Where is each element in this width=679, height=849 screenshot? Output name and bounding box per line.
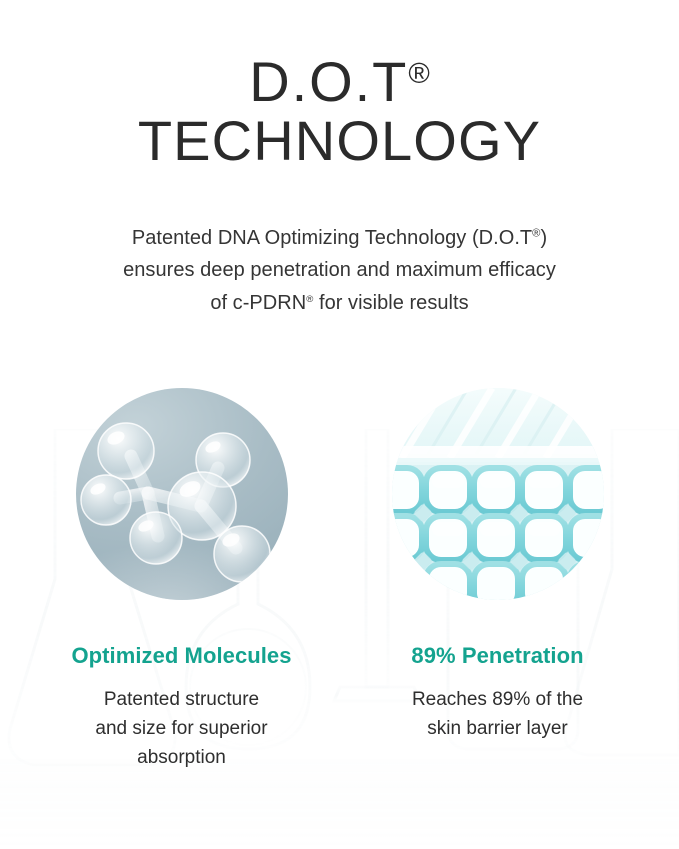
feature-description: Reaches 89% of the skin barrier layer [412,686,583,744]
subtitle-line-3-text: of c-PDRN [210,292,306,314]
title-line-two: TECHNOLOGY [0,111,679,170]
dot-technology-infographic: D.O.T® TECHNOLOGY Patented DNA Optimizin… [0,0,679,849]
feature-description-line: skin barrier layer [412,715,583,744]
subtitle-line-3-tail: for visible results [313,292,468,314]
feature-description-line: absorption [95,744,267,773]
molecule-floor-reflection [76,515,288,600]
feature-heading: 89% Penetration [411,644,583,668]
subtitle-block: Patented DNA Optimizing Technology (D.O.… [0,222,679,319]
feature-description: Patented structure and size for superior… [95,686,267,773]
feature-description-line: Patented structure [95,686,267,715]
subtitle-line-1-text: Patented DNA Optimizing Technology (D.O.… [132,227,532,249]
title-dot-text: D.O.T [249,50,408,113]
registered-trademark-icon: ® [408,58,429,90]
subtitle-line-1: Patented DNA Optimizing Technology (D.O.… [0,222,679,254]
title-line-one: D.O.T® [0,52,679,111]
feature-description-line: and size for superior [95,715,267,744]
skin-barrier-lattice-illustration [392,388,604,600]
feature-penetration: 89% Penetration Reaches 89% of the skin … [348,388,648,773]
lattice-grid [392,388,604,600]
subtitle-line-1-close: ) [540,227,547,249]
feature-columns: Optimized Molecules Patented structure a… [0,388,679,773]
subtitle-line-2: ensures deep penetration and maximum eff… [0,254,679,286]
page-title: D.O.T® TECHNOLOGY [0,52,679,171]
molecule-illustration [76,388,288,600]
feature-description-line: Reaches 89% of the [412,686,583,715]
feature-optimized-molecules: Optimized Molecules Patented structure a… [32,388,332,773]
feature-heading: Optimized Molecules [71,644,291,668]
subtitle-line-3: of c-PDRN® for visible results [0,287,679,319]
